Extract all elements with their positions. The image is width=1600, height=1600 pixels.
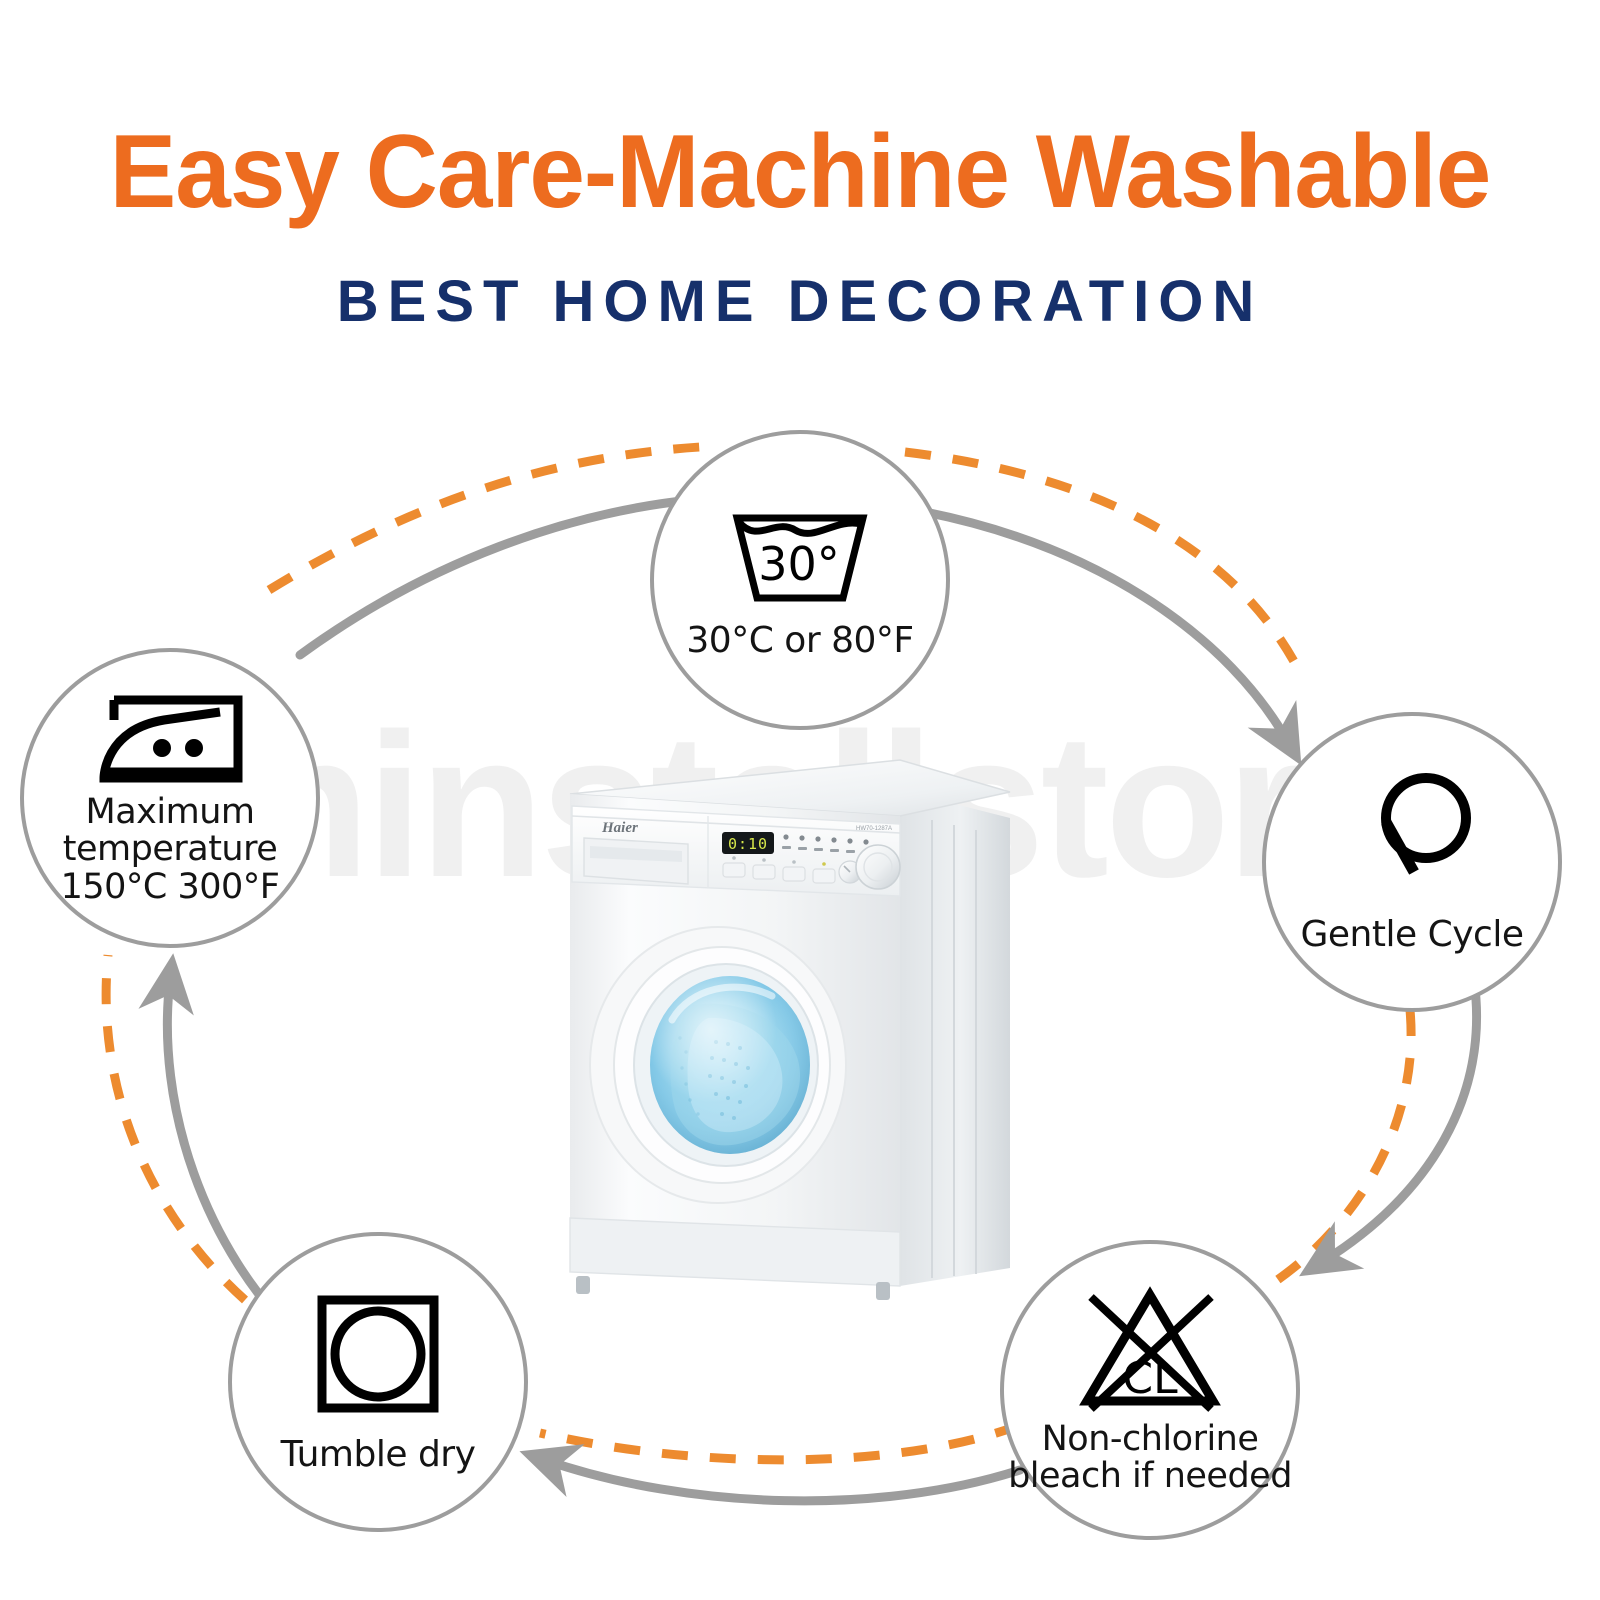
- care-node-wash-temperature[interactable]: 30° 30°C or 80°F: [650, 430, 950, 730]
- care-node-bleach-caption: Non-chlorine bleach if needed: [1004, 1421, 1296, 1495]
- display-value: 0:10: [728, 835, 768, 853]
- infographic-canvas: Easy Care-Machine Washable BEST HOME DEC…: [0, 0, 1600, 1600]
- model-label: HW70-1287A: [856, 826, 892, 832]
- tumble-dry-icon: [312, 1290, 444, 1418]
- brand-label: Haier: [601, 820, 638, 836]
- wash-temp-value: 30°: [758, 537, 840, 591]
- care-node-wash-caption: 30°C or 80°F: [686, 622, 913, 660]
- care-node-iron-caption: Maximum temperature 150°C 300°F: [24, 794, 316, 905]
- care-node-iron[interactable]: Maximum temperature 150°C 300°F: [20, 648, 320, 948]
- care-node-gentle-cycle[interactable]: Gentle Cycle: [1262, 712, 1562, 1012]
- care-node-tumble-caption: Tumble dry: [281, 1436, 476, 1474]
- wash-tub-30-icon: 30°: [725, 500, 875, 610]
- iron-two-dots-icon: [90, 690, 250, 788]
- care-node-gentle-caption: Gentle Cycle: [1301, 916, 1524, 954]
- no-chlorine-bleach-icon: CL: [1075, 1285, 1225, 1417]
- gentle-cycle-icon: [1342, 770, 1482, 900]
- bleach-cl-label: CL: [1122, 1353, 1178, 1404]
- care-node-bleach[interactable]: CL Non-chlorine bleach if needed: [1000, 1240, 1300, 1540]
- care-node-tumble-dry[interactable]: Tumble dry: [228, 1232, 528, 1532]
- washing-machine-illustration: Haier 0:10 HW70-1287A: [540, 720, 1040, 1340]
- page-subtitle: BEST HOME DECORATION: [0, 268, 1600, 335]
- page-title: Easy Care-Machine Washable: [32, 118, 1568, 227]
